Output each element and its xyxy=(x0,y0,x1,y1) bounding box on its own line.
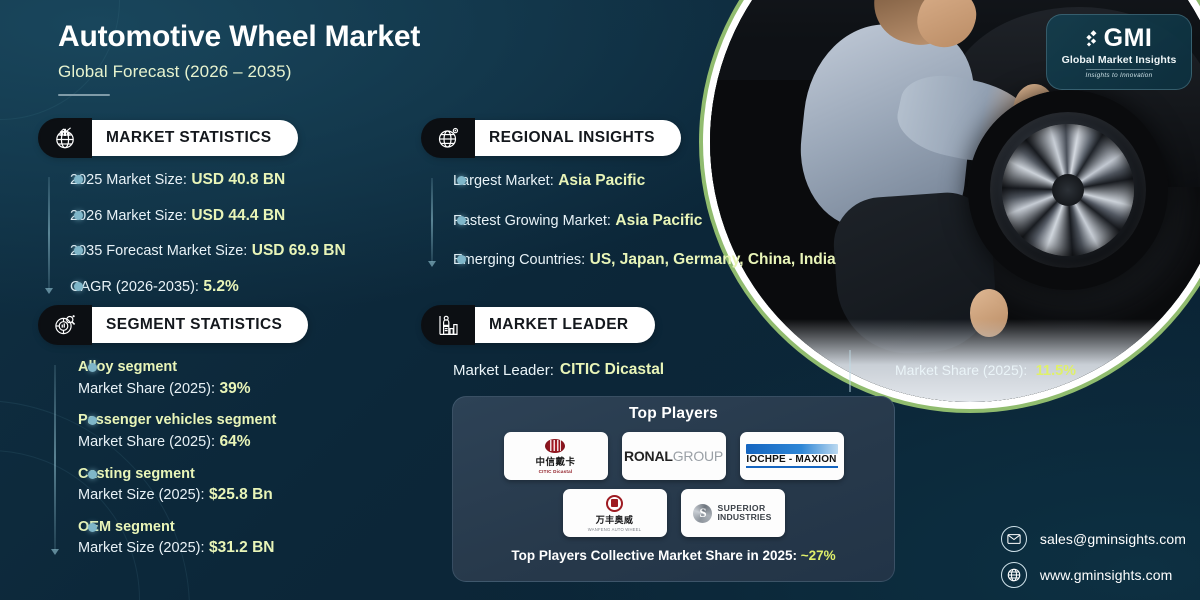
gmi-full-name: Global Market Insights xyxy=(1062,54,1177,66)
stat-row: 2026 Market Size: USD 44.4 BN xyxy=(70,205,346,228)
wheel-tyre xyxy=(968,90,1168,290)
ronal-light-text: GROUP xyxy=(673,448,723,464)
segment-label: Market Size (2025): xyxy=(78,540,205,556)
player-logo-iochpe-maxion[interactable]: IOCHPE - MAXION xyxy=(740,432,844,480)
player-logo-en: WANFENG AUTO WHEEL xyxy=(588,527,641,532)
section-market-statistics: MARKET STATISTICS 2025 Market Size: USD … xyxy=(40,120,346,312)
segment-value: 64% xyxy=(219,433,250,450)
region-value: Asia Pacific xyxy=(615,212,702,229)
stat-label: 2035 Forecast Market Size: xyxy=(70,243,247,259)
pie-chart-magnifier-icon xyxy=(40,307,90,343)
stat-value: USD 44.4 BN xyxy=(191,207,285,224)
envelope-icon xyxy=(1001,526,1027,552)
wanfeng-mark-icon xyxy=(606,495,623,512)
regional-insights-header: REGIONAL INSIGHTS xyxy=(423,120,681,156)
contact-email[interactable]: sales@gminsights.com xyxy=(1040,531,1186,547)
market-leader-label: Market Leader: xyxy=(453,362,554,379)
connector-rail xyxy=(48,177,50,289)
regional-insights-list: Largest Market: Asia Pacific Fastest Gro… xyxy=(423,170,836,272)
stat-label: 2026 Market Size: xyxy=(70,208,187,224)
market-share-label: Market Share (2025): xyxy=(895,362,1027,378)
segment-value: 39% xyxy=(219,380,250,397)
region-label: Emerging Countries: xyxy=(453,252,585,268)
segment-row: Alloy segment Market Share (2025): 39% xyxy=(78,357,308,400)
player-logo-cn: 万丰奥威 xyxy=(596,513,634,526)
market-statistics-header: MARKET STATISTICS xyxy=(40,120,298,156)
region-value: US, Japan, Germany, China, India xyxy=(590,251,836,268)
market-statistics-list: 2025 Market Size: USD 40.8 BN 2026 Marke… xyxy=(40,169,346,299)
contact-website[interactable]: www.gminsights.com xyxy=(1040,567,1173,583)
collective-share-label: Top Players Collective Market Share in 2… xyxy=(511,548,797,563)
stat-value: USD 40.8 BN xyxy=(191,171,285,188)
market-leader-header: MARKET LEADER xyxy=(423,307,655,343)
globe-pin-icon xyxy=(423,120,473,156)
segment-statistics-list: Alloy segment Market Share (2025): 39% P… xyxy=(40,357,308,560)
top-players-row-1: 中信戴卡 CITIC Dicastal RONALGROUP IOCHPE - … xyxy=(453,432,894,480)
iochpe-text: IOCHPE - MAXION xyxy=(746,454,838,469)
market-leader-row: Market Leader: CITIC Dicastal xyxy=(423,361,664,379)
title-underline xyxy=(58,94,110,96)
region-label: Largest Market: xyxy=(453,173,554,189)
segment-label: Market Size (2025): xyxy=(78,487,205,503)
bullet-dot xyxy=(457,216,466,225)
gmi-name: GMI xyxy=(1104,26,1153,51)
player-logo-superior-industries[interactable]: SUPERIOR INDUSTRIES xyxy=(681,489,785,537)
stat-row: CAGR (2026-2035): 5.2% xyxy=(70,276,346,299)
segment-row: Casting segment Market Size (2025): $25.… xyxy=(78,464,308,507)
showroom-floor xyxy=(710,319,1200,402)
stat-label: CAGR (2026-2035): xyxy=(70,279,199,295)
region-row: Emerging Countries: US, Japan, Germany, … xyxy=(453,249,836,272)
connector-rail xyxy=(431,178,433,262)
market-leader-title: MARKET LEADER xyxy=(473,316,629,334)
globe-icon xyxy=(1001,562,1027,588)
segment-name: Casting segment xyxy=(78,464,308,485)
player-logo-citic-dicastal[interactable]: 中信戴卡 CITIC Dicastal xyxy=(504,432,608,480)
vertical-divider xyxy=(849,350,851,392)
player-logo-en: CITIC Dicastal xyxy=(539,469,573,474)
connector-rail xyxy=(54,365,56,550)
region-row: Largest Market: Asia Pacific xyxy=(453,170,836,193)
superior-s-mark-icon xyxy=(693,504,712,523)
bullet-dot xyxy=(74,211,83,220)
region-value: Asia Pacific xyxy=(558,172,645,189)
collective-share-value: ~27% xyxy=(801,548,836,563)
iochpe-bar-icon xyxy=(746,444,838,454)
top-players-title: Top Players xyxy=(453,405,894,423)
bullet-dot xyxy=(88,470,97,479)
header: Automotive Wheel Market Global Forecast … xyxy=(58,20,420,96)
player-logo-ronal-group[interactable]: RONALGROUP xyxy=(622,432,726,480)
player-logo-cn: 中信戴卡 xyxy=(535,454,575,468)
segment-row: Passenger vehicles segment Market Share … xyxy=(78,410,308,453)
section-segment-statistics: SEGMENT STATISTICS Alloy segment Market … xyxy=(40,307,308,570)
market-leader-share: Market Share (2025): 11.5% xyxy=(895,362,1076,380)
segment-name: Alloy segment xyxy=(78,357,308,378)
stat-label: 2025 Market Size: xyxy=(70,172,187,188)
segment-label: Market Share (2025): xyxy=(78,434,215,450)
page-subtitle: Global Forecast (2026 – 2035) xyxy=(58,62,420,82)
market-leader-value: CITIC Dicastal xyxy=(560,361,664,379)
market-statistics-title: MARKET STATISTICS xyxy=(90,129,272,147)
page-title: Automotive Wheel Market xyxy=(58,20,420,53)
stat-row: 2035 Forecast Market Size: USD 69.9 BN xyxy=(70,240,346,263)
citic-mark-icon xyxy=(545,439,565,453)
top-players-footer: Top Players Collective Market Share in 2… xyxy=(453,548,894,563)
segment-label: Market Share (2025): xyxy=(78,381,215,397)
segment-name: OEM segment xyxy=(78,517,308,538)
contact-email-row[interactable]: sales@gminsights.com xyxy=(1001,526,1186,552)
section-regional-insights: REGIONAL INSIGHTS Largest Market: Asia P… xyxy=(423,120,836,289)
stat-value: 5.2% xyxy=(203,278,238,295)
segment-value: $31.2 BN xyxy=(209,539,274,556)
region-label: Fastest Growing Market: xyxy=(453,213,611,229)
segment-name: Passenger vehicles segment xyxy=(78,410,308,431)
segment-statistics-header: SEGMENT STATISTICS xyxy=(40,307,308,343)
segment-row: OEM segment Market Size (2025): $31.2 BN xyxy=(78,517,308,560)
stat-row: 2025 Market Size: USD 40.8 BN xyxy=(70,169,346,192)
alloy-wheel xyxy=(968,90,1168,290)
segment-statistics-title: SEGMENT STATISTICS xyxy=(90,316,282,334)
globe-chart-icon xyxy=(40,120,90,156)
market-share-value: 11.5% xyxy=(1036,363,1076,379)
contact-block: sales@gminsights.com www.gminsights.com xyxy=(1001,526,1186,588)
regional-insights-title: REGIONAL INSIGHTS xyxy=(473,129,655,147)
gmi-tagline: Insights to Innovation xyxy=(1086,69,1153,79)
superior-line-2: INDUSTRIES xyxy=(717,513,771,522)
contact-website-row[interactable]: www.gminsights.com xyxy=(1001,562,1186,588)
top-players-row-2: 万丰奥威 WANFENG AUTO WHEEL SUPERIOR INDUSTR… xyxy=(453,489,894,537)
infographic-root: GMI Global Market Insights Insights to I… xyxy=(0,0,1200,600)
stat-value: USD 69.9 BN xyxy=(252,242,346,259)
gmi-logo-top: GMI xyxy=(1086,26,1153,51)
ronal-bold-text: RONAL xyxy=(624,448,673,464)
gmi-diamond-mark-icon xyxy=(1086,30,1101,47)
top-players-panel: Top Players 中信戴卡 CITIC Dicastal RONALGRO… xyxy=(452,396,895,582)
segment-value: $25.8 Bn xyxy=(209,486,273,503)
section-market-leader: MARKET LEADER Market Leader: CITIC Dicas… xyxy=(423,307,664,379)
podium-winner-icon xyxy=(423,307,473,343)
region-row: Fastest Growing Market: Asia Pacific xyxy=(453,210,836,233)
gmi-logo-badge: GMI Global Market Insights Insights to I… xyxy=(1046,14,1192,90)
player-logo-wanfeng[interactable]: 万丰奥威 WANFENG AUTO WHEEL xyxy=(563,489,667,537)
